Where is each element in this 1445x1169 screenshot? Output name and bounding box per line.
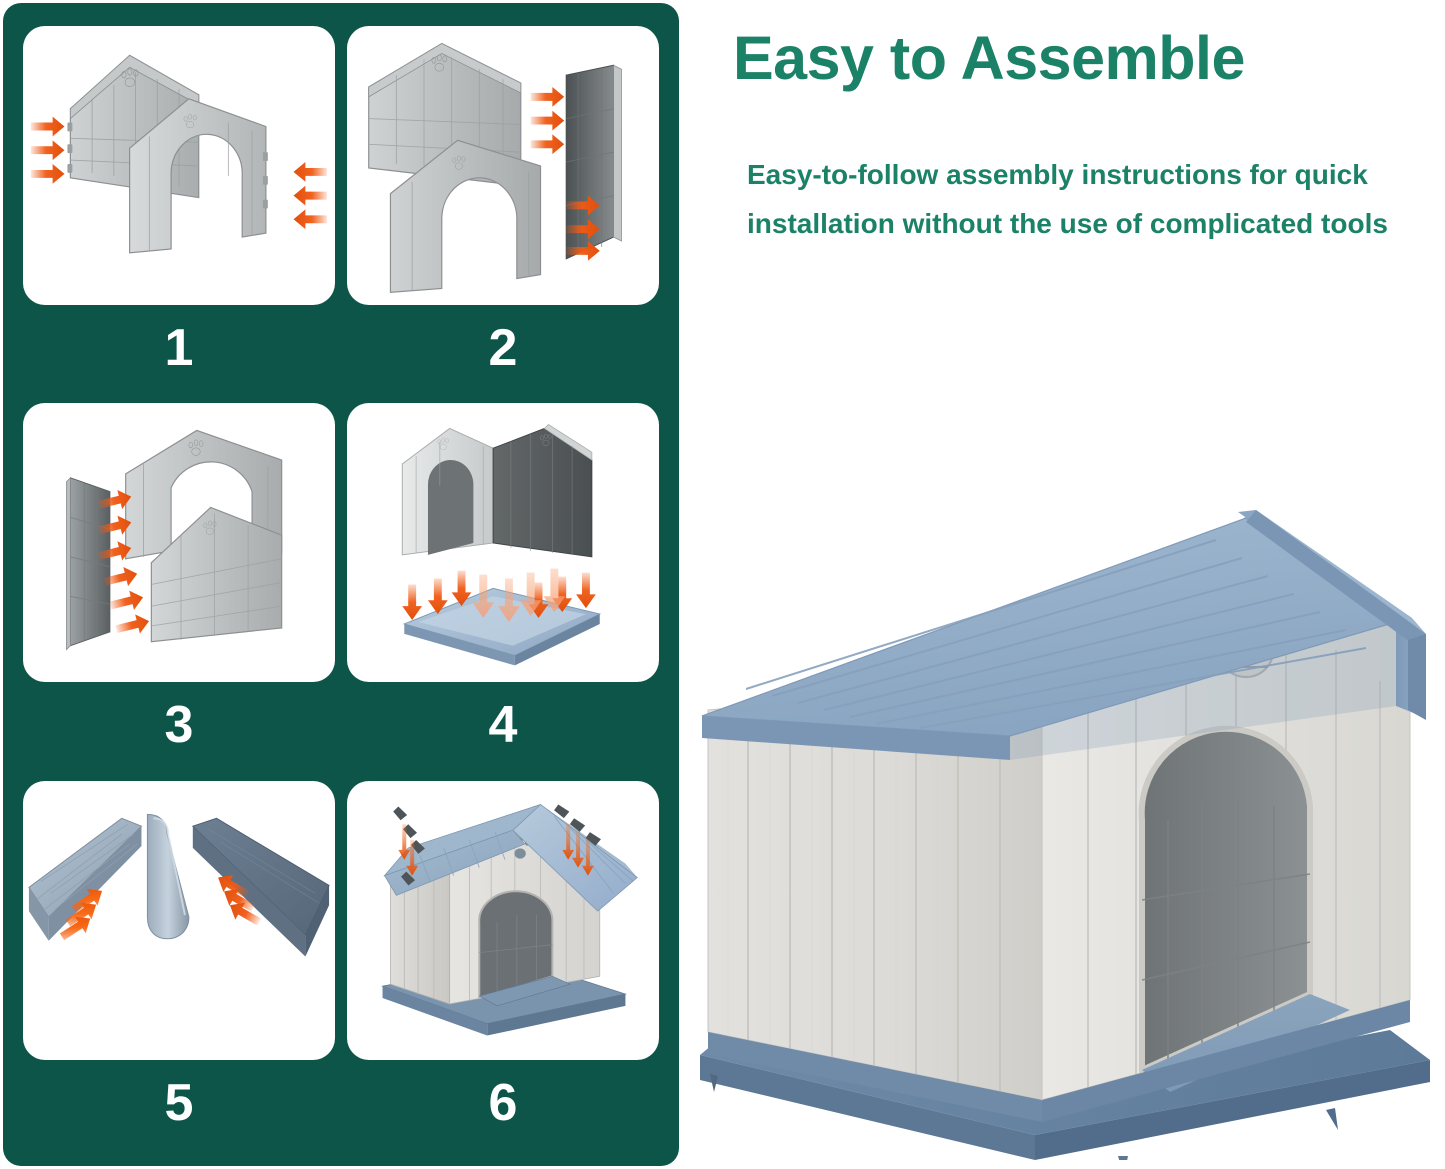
step-5-illustration-card <box>23 781 335 1060</box>
step-6-finished-house-diagram <box>347 781 659 1060</box>
hero-product-image <box>690 470 1445 1160</box>
arrow-right-group <box>31 117 65 184</box>
wall-box-assembly <box>402 425 592 557</box>
step-1-illustration-card <box>23 26 335 305</box>
ridge-cap <box>147 814 188 938</box>
step-2-side-wall-diagram <box>347 26 659 305</box>
assembly-step-5: 5 <box>23 781 335 1158</box>
assembly-step-3: 3 <box>23 403 335 780</box>
page-title: Easy to Assemble <box>733 26 1433 90</box>
step-4-number: 4 <box>489 699 518 751</box>
assembly-steps-grid: 1 <box>23 26 659 1158</box>
assembly-steps-panel: 1 <box>3 3 679 1166</box>
step-3-number: 3 <box>165 699 194 751</box>
ground-stake <box>1118 1156 1128 1160</box>
assembly-step-2: 2 <box>347 26 659 403</box>
assembly-step-1: 1 <box>23 26 335 403</box>
marketing-column: Easy to Assemble Easy-to-follow assembly… <box>690 0 1445 1169</box>
page-subtitle: Easy-to-follow assembly instructions for… <box>747 150 1427 248</box>
step-2-number: 2 <box>489 322 518 374</box>
assembly-step-4: 4 <box>347 403 659 780</box>
right-roof-panel <box>193 818 329 956</box>
step-3-illustration-card <box>23 403 335 682</box>
ground-stake <box>1326 1108 1338 1130</box>
arrow-left-group <box>294 162 328 229</box>
dog-house-render <box>690 470 1445 1160</box>
step-6-illustration-card <box>347 781 659 1060</box>
step-5-number: 5 <box>165 1077 194 1129</box>
step-1-number: 1 <box>165 322 194 374</box>
step-2-illustration-card <box>347 26 659 305</box>
step-1-panels-diagram <box>23 26 335 305</box>
step-4-illustration-card <box>347 403 659 682</box>
step-5-roof-panels-diagram <box>23 781 335 1060</box>
step-3-second-side-wall-diagram <box>23 403 335 682</box>
step-4-base-assembly-diagram <box>347 403 659 682</box>
assembly-step-6: 6 <box>347 781 659 1158</box>
step-6-number: 6 <box>489 1077 518 1129</box>
